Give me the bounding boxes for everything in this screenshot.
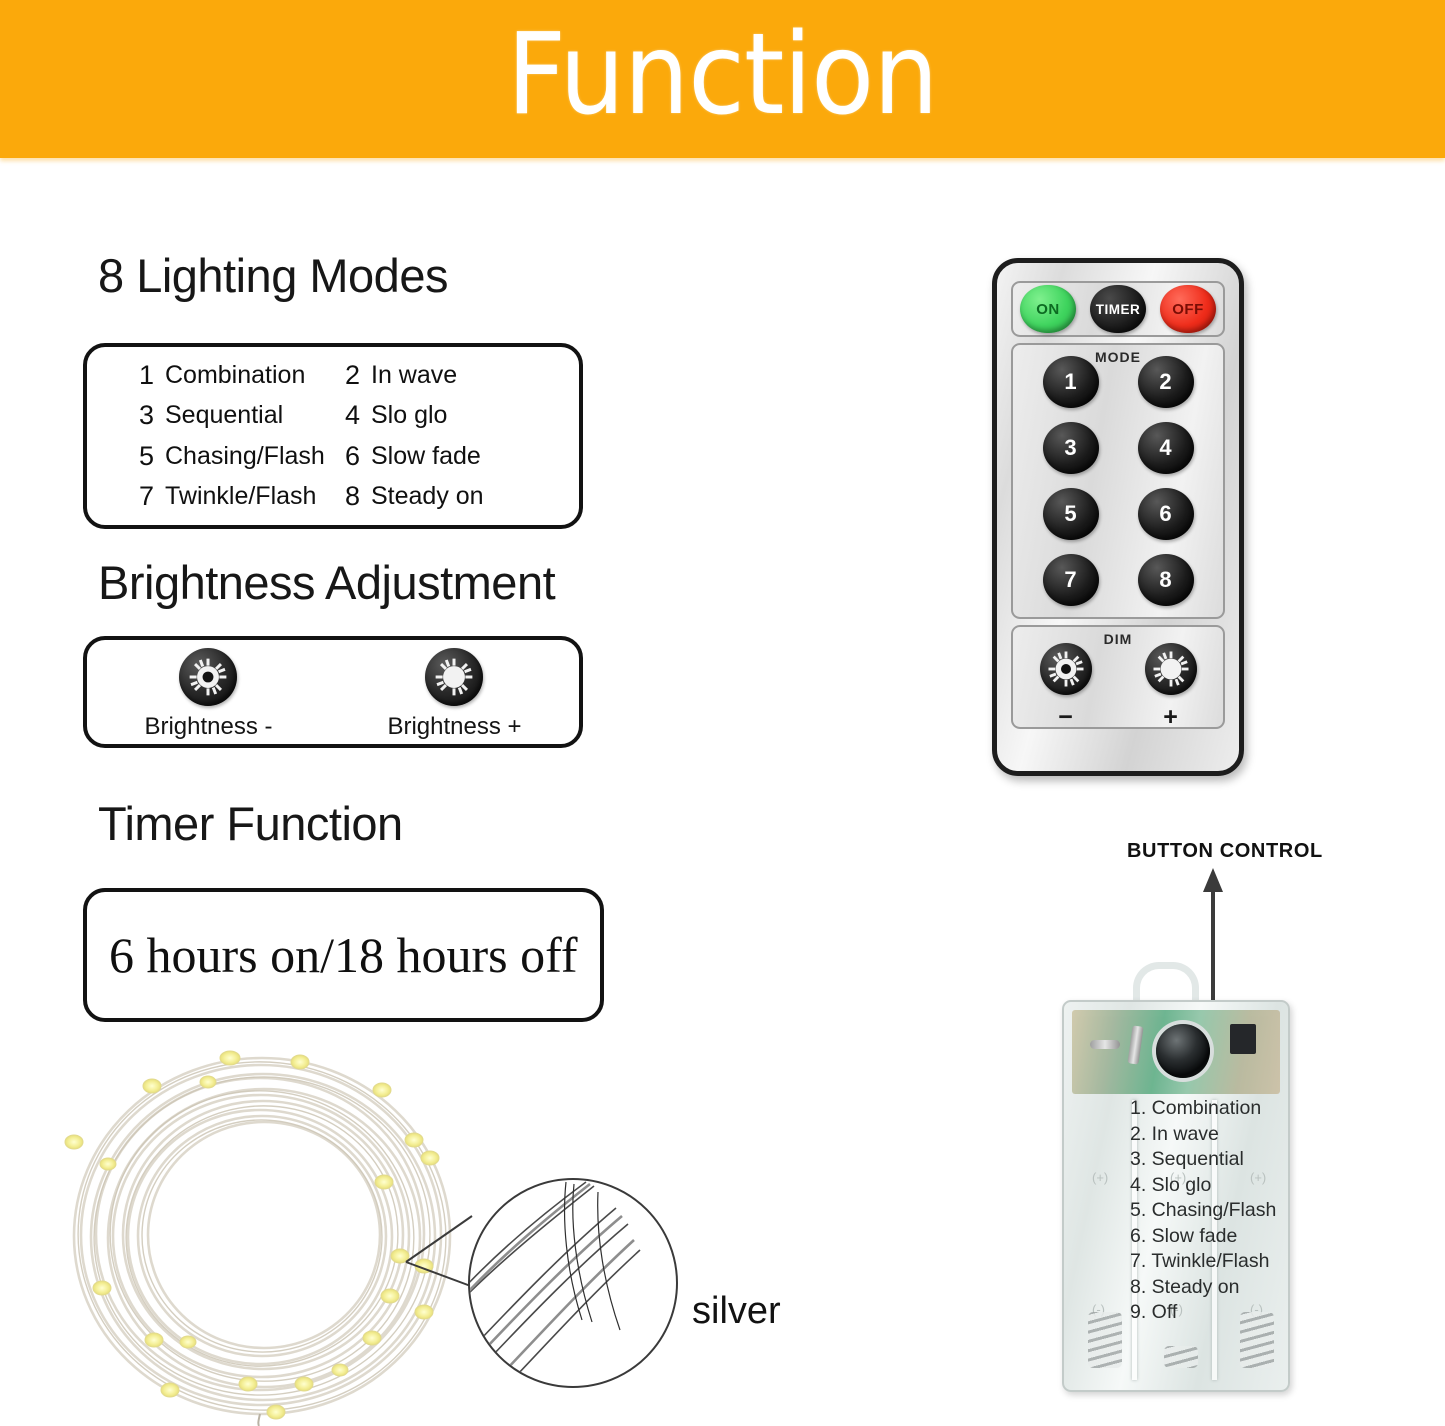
sun-bright-glyph: [1151, 649, 1191, 689]
remote-control: ON TIMER OFF MODE 1 2 3 4 5 6 7 8 DIM: [992, 258, 1244, 776]
brightness-minus-item: Brightness -: [144, 648, 272, 741]
remote-mode-button-7[interactable]: 7: [1043, 554, 1099, 606]
remote-dim-minus-sign: −: [1058, 705, 1073, 730]
sun-dim-icon[interactable]: [1040, 643, 1092, 695]
battery-mode-item: 6. Slow fade: [1130, 1224, 1276, 1250]
mode-number: 2: [345, 360, 371, 391]
remote-dim-row: − +: [1013, 643, 1223, 730]
mode-item: 4 Slo glo: [333, 396, 579, 437]
mode-number: 4: [345, 400, 371, 431]
chip-icon: [1230, 1024, 1256, 1054]
timer-value: 6 hours on/18 hours off: [87, 926, 578, 984]
header-banner: Function: [0, 0, 1445, 158]
battery-mode-item: 2. In wave: [1130, 1122, 1276, 1148]
mode-label: Twinkle/Flash: [165, 482, 316, 511]
remote-mode-button-4[interactable]: 4: [1138, 422, 1194, 474]
brightness-minus-label: Brightness -: [144, 713, 272, 741]
magnifier-circle-icon: [468, 1178, 678, 1388]
remote-off-button[interactable]: OFF: [1160, 285, 1216, 333]
battery-box: (+) (+) (+) (-) (-) (-) 1. Combination 2…: [1062, 1000, 1290, 1392]
sun-dim-glyph: [1046, 649, 1086, 689]
battery-polarity-mark: (+): [1092, 1170, 1108, 1185]
battery-spring: [1164, 1346, 1198, 1368]
page-title: Function: [507, 19, 938, 131]
sun-dim-icon: [179, 648, 237, 706]
battery-mode-item: 9. Off: [1130, 1300, 1276, 1326]
mode-label: Chasing/Flash: [165, 442, 325, 471]
remote-mode-button-2[interactable]: 2: [1138, 356, 1194, 408]
sun-dim-glyph: [187, 656, 229, 698]
brightness-box: Brightness - Brightness +: [83, 636, 583, 748]
lighting-modes-box: 1 Combination 2 In wave 3 Sequential 4 S…: [83, 343, 583, 529]
remote-dim-plus-group: +: [1145, 643, 1197, 730]
remote-mode-button-5[interactable]: 5: [1043, 488, 1099, 540]
mode-number: 8: [345, 481, 371, 512]
battery-mode-item: 5. Chasing/Flash: [1130, 1198, 1276, 1224]
mode-item: 1 Combination: [87, 355, 333, 396]
remote-timer-button[interactable]: TIMER: [1090, 285, 1146, 333]
mode-number: 3: [139, 400, 165, 431]
mode-item: 7 Twinkle/Flash: [87, 477, 333, 518]
mode-number: 1: [139, 360, 165, 391]
remote-mode-button-3[interactable]: 3: [1043, 422, 1099, 474]
remote-dim-plus-sign: +: [1163, 705, 1178, 730]
battery-mode-item: 3. Sequential: [1130, 1147, 1276, 1173]
push-button-icon[interactable]: [1156, 1024, 1210, 1078]
remote-on-button[interactable]: ON: [1020, 285, 1076, 333]
remote-power-panel: ON TIMER OFF: [1011, 281, 1225, 337]
mode-item: 5 Chasing/Flash: [87, 436, 333, 477]
remote-dim-panel: DIM: [1011, 625, 1225, 729]
mode-number: 6: [345, 441, 371, 472]
mode-number: 7: [139, 481, 165, 512]
remote-mode-grid: 1 2 3 4 5 6 7 8: [1013, 345, 1223, 617]
mode-item: 3 Sequential: [87, 396, 333, 437]
remote-dim-minus-group: −: [1040, 643, 1092, 730]
sun-bright-icon[interactable]: [1145, 643, 1197, 695]
mode-item: 2 In wave: [333, 355, 579, 396]
silver-label: silver: [692, 1290, 781, 1333]
battery-box-mode-list: 1. Combination 2. In wave 3. Sequential …: [1130, 1096, 1276, 1326]
silver-wire-closeup: [470, 1180, 672, 1382]
mode-label: Sequential: [165, 401, 283, 430]
lighting-modes-heading: 8 Lighting Modes: [98, 252, 448, 299]
brightness-plus-item: Brightness +: [387, 648, 521, 741]
mode-item: 6 Slow fade: [333, 436, 579, 477]
remote-mode-button-1[interactable]: 1: [1043, 356, 1099, 408]
brightness-plus-label: Brightness +: [387, 713, 521, 741]
sun-bright-glyph: [433, 656, 475, 698]
resistor-icon: [1090, 1040, 1120, 1049]
coil-icon: [1127, 1025, 1143, 1064]
mode-label: Slo glo: [371, 401, 447, 430]
mode-label: Combination: [165, 361, 305, 390]
sun-bright-icon: [425, 648, 483, 706]
battery-mode-item: 4. Slo glo: [1130, 1173, 1276, 1199]
remote-mode-panel: MODE 1 2 3 4 5 6 7 8: [1011, 343, 1225, 619]
timer-box: 6 hours on/18 hours off: [83, 888, 604, 1022]
brightness-row: Brightness - Brightness +: [87, 640, 579, 744]
mode-label: Steady on: [371, 482, 484, 511]
mode-item: 8 Steady on: [333, 477, 579, 518]
battery-spring: [1088, 1312, 1122, 1368]
lighting-modes-grid: 1 Combination 2 In wave 3 Sequential 4 S…: [87, 347, 579, 525]
mode-label: In wave: [371, 361, 457, 390]
mode-label: Slow fade: [371, 442, 481, 471]
battery-mode-item: 8. Steady on: [1130, 1275, 1276, 1301]
remote-mode-button-6[interactable]: 6: [1138, 488, 1194, 540]
battery-mode-item: 7. Twinkle/Flash: [1130, 1249, 1276, 1275]
battery-mode-item: 1. Combination: [1130, 1096, 1276, 1122]
remote-mode-button-8[interactable]: 8: [1138, 554, 1194, 606]
brightness-heading: Brightness Adjustment: [98, 559, 555, 606]
button-control-callout-label: BUTTON CONTROL: [1127, 840, 1323, 863]
timer-heading: Timer Function: [98, 800, 403, 847]
mode-number: 5: [139, 441, 165, 472]
